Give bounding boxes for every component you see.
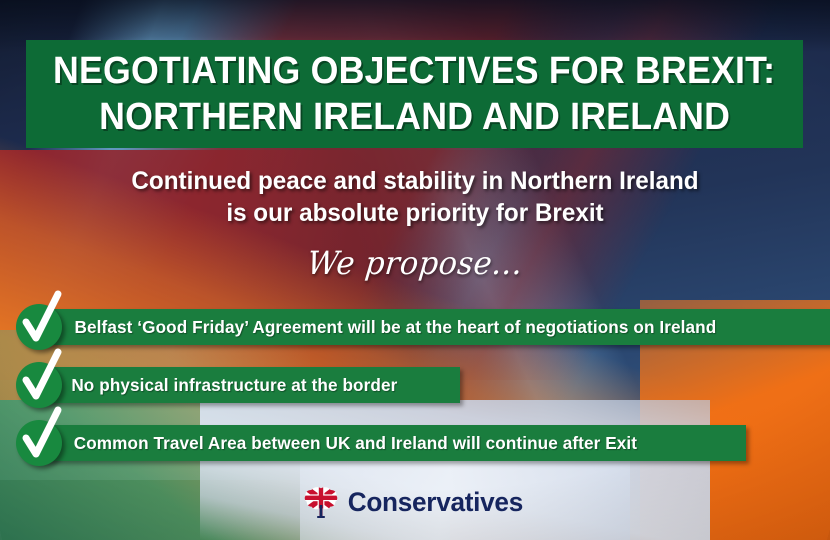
proposal-bar: Common Travel Area between UK and Irelan… bbox=[38, 425, 746, 461]
check-mark-icon bbox=[16, 420, 62, 466]
list-item: Common Travel Area between UK and Irelan… bbox=[8, 419, 830, 475]
proposal-bar: No physical infrastructure at the border bbox=[38, 367, 460, 403]
we-propose-script: We propose... bbox=[19, 243, 812, 283]
title-band: NEGOTIATING OBJECTIVES FOR BREXIT: NORTH… bbox=[26, 40, 803, 148]
subtitle-line-2: is our absolute priority for Brexit bbox=[12, 197, 817, 229]
conservative-party-oak-tree-union-jack-icon bbox=[304, 486, 338, 518]
check-mark-icon bbox=[16, 304, 62, 350]
brexit-northern-ireland-poster: NEGOTIATING OBJECTIVES FOR BREXIT: NORTH… bbox=[0, 0, 830, 540]
proposal-text: Common Travel Area between UK and Irelan… bbox=[74, 434, 637, 453]
title-line-2: NORTHERN IRELAND AND IRELAND bbox=[99, 94, 730, 140]
list-item: Belfast ‘Good Friday’ Agreement will be … bbox=[8, 303, 830, 359]
proposal-text: Belfast ‘Good Friday’ Agreement will be … bbox=[75, 318, 717, 337]
proposal-list: Belfast ‘Good Friday’ Agreement will be … bbox=[8, 303, 830, 477]
conservatives-wordmark: Conservatives bbox=[348, 487, 523, 517]
subtitle-line-1: Continued peace and stability in Norther… bbox=[12, 165, 817, 197]
conservatives-logo: Conservatives bbox=[0, 486, 830, 518]
title-line-1: NEGOTIATING OBJECTIVES FOR BREXIT: bbox=[53, 48, 775, 94]
check-mark-icon bbox=[16, 362, 62, 408]
proposal-bar: Belfast ‘Good Friday’ Agreement will be … bbox=[38, 309, 830, 345]
list-item: No physical infrastructure at the border bbox=[8, 361, 830, 417]
proposal-text: No physical infrastructure at the border bbox=[71, 376, 397, 395]
subtitle: Continued peace and stability in Norther… bbox=[12, 165, 817, 229]
